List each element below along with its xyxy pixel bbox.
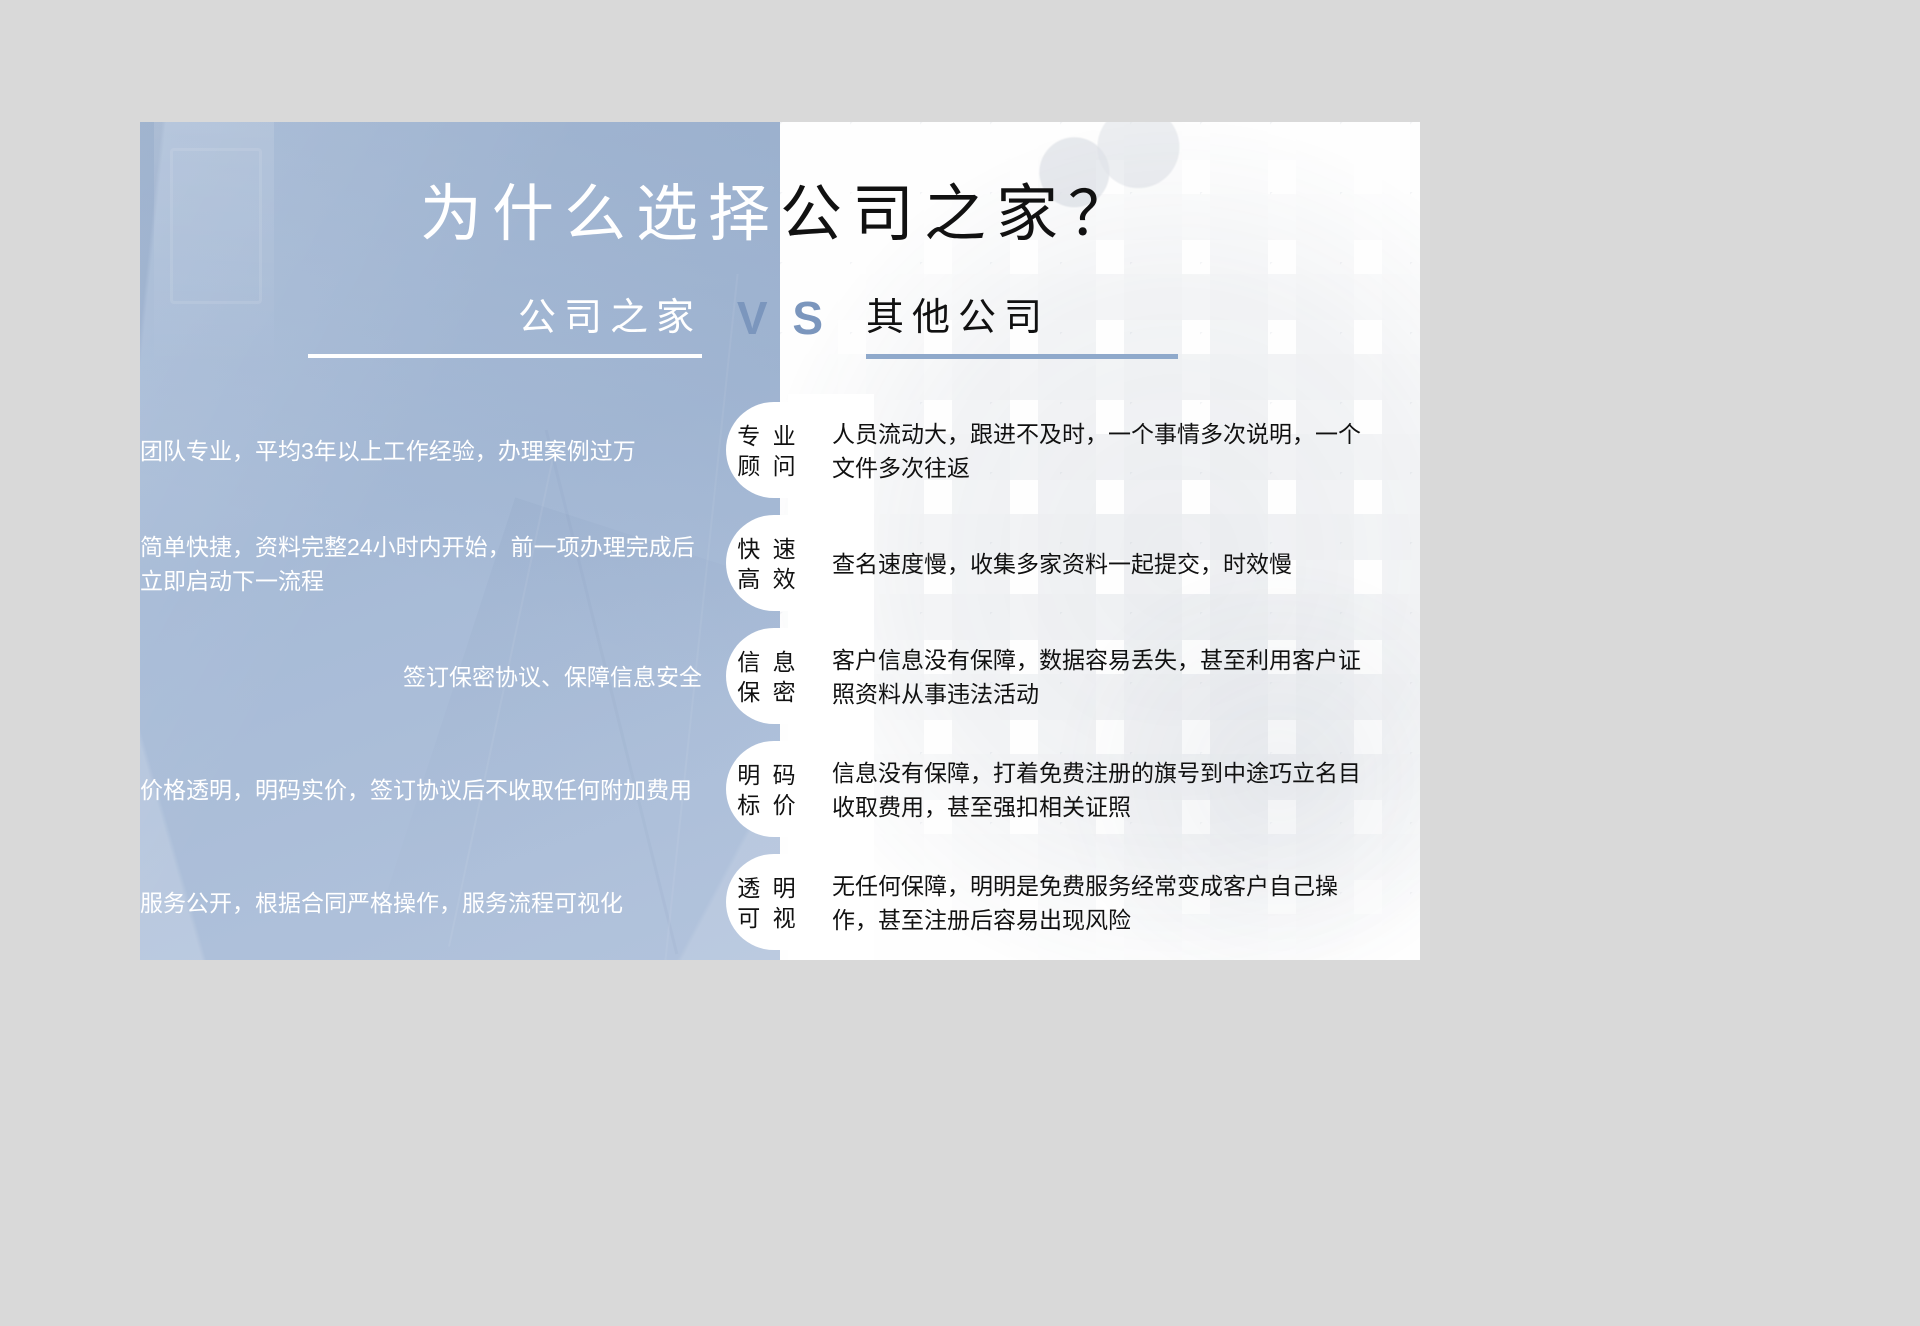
vs-header-right-label: 其他公司 — [866, 292, 1420, 344]
comparison-row: 简单快捷，资料完整24小时内开始，前一项办理完成后立即启动下一流程 快 速 高 … — [140, 507, 1420, 620]
row-right-text: 客户信息没有保障，数据容易丢失，甚至利用客户证照资料从事违法活动 — [818, 643, 1420, 711]
row-category-line-1: 信 息 — [718, 647, 818, 677]
row-right-text: 人员流动大，跟进不及时，一个事情多次说明，一个文件多次往返 — [818, 417, 1420, 485]
page-title-highlight: 为什么选择 — [420, 163, 780, 253]
vs-header-right: 其他公司 — [848, 292, 1420, 359]
comparison-row: 团队专业，平均3年以上工作经验，办理案例过万 专 业 顾 问 人员流动大，跟进不… — [140, 394, 1420, 507]
row-category-line-1: 快 速 — [718, 534, 818, 564]
row-category-line-2: 保 密 — [718, 677, 818, 707]
row-category-line-2: 高 效 — [718, 564, 818, 594]
row-right-text: 无任何保障，明明是免费服务经常变成客户自己操作，甚至注册后容易出现风险 — [818, 869, 1420, 937]
comparison-row: 签订保密协议、保障信息安全 信 息 保 密 客户信息没有保障，数据容易丢失，甚至… — [140, 620, 1420, 733]
comparison-row: 服务公开，根据合同严格操作，服务流程可视化 透 明 可 视 无任何保障，明明是免… — [140, 846, 1420, 959]
comparison-row: 价格透明，明码实价，签订协议后不收取任何附加费用 明 码 标 价 信息没有保障，… — [140, 733, 1420, 846]
row-category-line-2: 顾 问 — [718, 451, 818, 481]
row-category-line-1: 透 明 — [718, 873, 818, 903]
vs-badge: V S — [718, 292, 848, 344]
row-left-text: 服务公开，根据合同严格操作，服务流程可视化 — [140, 886, 718, 920]
row-left-text: 简单快捷，资料完整24小时内开始，前一项办理完成后立即启动下一流程 — [140, 530, 718, 598]
row-category-line-2: 标 价 — [718, 790, 818, 820]
vs-header-left-underline — [308, 354, 702, 358]
vs-header: 公司之家 V S 其他公司 — [140, 292, 1420, 388]
page-title-rest: 公司之家？ — [780, 163, 1140, 253]
row-left-text: 签订保密协议、保障信息安全 — [140, 660, 718, 694]
row-right-text: 查名速度慢，收集多家资料一起提交，时效慢 — [818, 547, 1420, 581]
row-category-label: 专 业 顾 问 — [718, 421, 818, 481]
row-left-text: 价格透明，明码实价，签订协议后不收取任何附加费用 — [140, 773, 718, 807]
row-category-line-1: 专 业 — [718, 421, 818, 451]
comparison-card: 为什么选择公司之家？ 公司之家 V S 其他公司 团队专业，平均3年以上工作经验… — [140, 122, 1420, 960]
row-right-text: 信息没有保障，打着免费注册的旗号到中途巧立名目收取费用，甚至强扣相关证照 — [818, 756, 1420, 824]
row-left-text: 团队专业，平均3年以上工作经验，办理案例过万 — [140, 434, 718, 468]
page-title: 为什么选择公司之家？ — [140, 160, 1420, 256]
row-category-line-1: 明 码 — [718, 760, 818, 790]
vs-header-left: 公司之家 — [140, 292, 718, 358]
vs-header-left-label: 公司之家 — [140, 292, 702, 344]
row-category-label: 快 速 高 效 — [718, 534, 818, 594]
row-category-line-2: 可 视 — [718, 903, 818, 933]
vs-header-right-underline — [866, 354, 1178, 359]
comparison-rows: 团队专业，平均3年以上工作经验，办理案例过万 专 业 顾 问 人员流动大，跟进不… — [140, 394, 1420, 960]
row-category-label: 信 息 保 密 — [718, 647, 818, 707]
row-category-label: 明 码 标 价 — [718, 760, 818, 820]
row-category-label: 透 明 可 视 — [718, 873, 818, 933]
slide-canvas: 为什么选择公司之家？ 公司之家 V S 其他公司 团队专业，平均3年以上工作经验… — [0, 0, 1920, 1326]
